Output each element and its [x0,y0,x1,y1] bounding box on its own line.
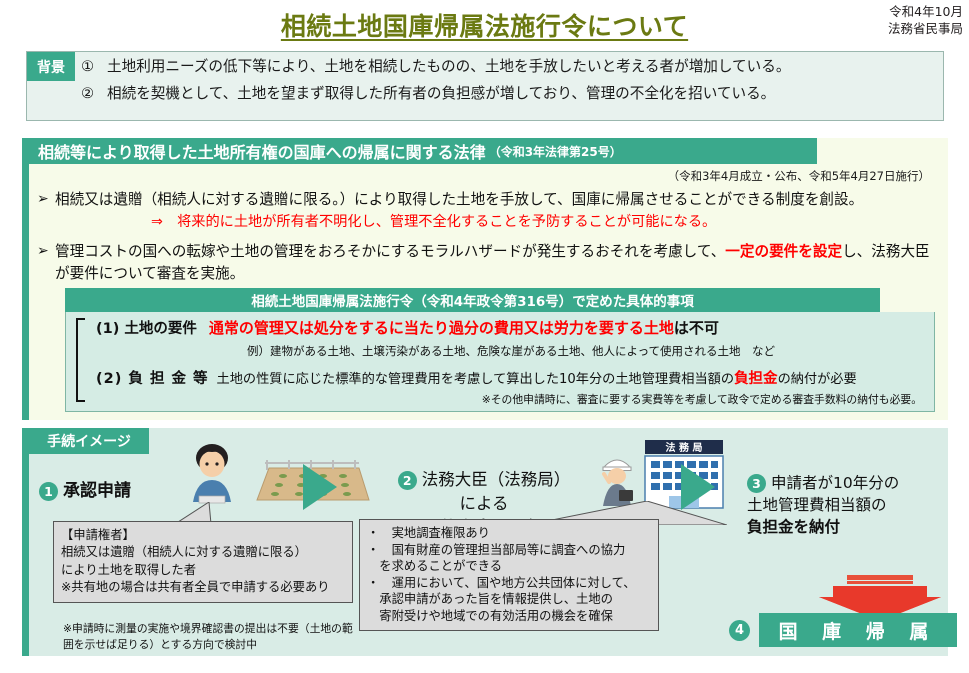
callout-line: により土地を取得した者 [61,562,345,579]
step-1-number: 1 [39,482,58,501]
requirement-row-2: (2) 負 担 金 等 土地の性質に応じた標準的な管理費用を考慮して算出した10… [74,367,926,388]
item-number: ① [81,56,107,79]
callout-line: ※共有地の場合は共有者全員で申請する必要あり [61,579,345,596]
document-page: 相続土地国庫帰属法施行令について 令和4年10月 法務省民事局 背景 ① 土地利… [0,0,969,673]
ordinance-body: (1) 土地の要件 通常の管理又は処分をするに当たり過分の費用又は労力を要する土… [65,312,935,412]
requirement-1-text: 通常の管理又は処分をするに当たり過分の費用又は労力を要する土地は不可 [209,317,719,338]
requirement-1-label: (1) 土地の要件 [96,317,197,338]
procedure-badge: 手続イメージ [29,428,149,454]
requirement-2-note: ※その他申請時に、審査に要する実費等を考慮して政令で定める審査手数料の納付も必要… [74,391,926,407]
procedure-section: 手続イメージ 1承認申請 [22,428,948,656]
issuer-block: 令和4年10月 法務省民事局 [888,4,963,38]
callout-line: ・ 実地調査権限あり [367,525,651,542]
law-bullet-1: ➢ 相続又は遺贈（相続人に対する遺贈に限る。）により取得した土地を手放して、国庫… [35,189,938,233]
law-enforcement-date: （令和3年4月成立・公布、令和5年4月27日施行） [35,168,938,184]
requirement-1-black: は不可 [674,319,719,337]
requirement-2-pre: 土地の性質に応じた標準的な管理費用を考慮して算出した10年分の土地管理費相当額の [217,372,735,387]
issuer-name: 法務省民事局 [888,21,963,38]
step-1-label: 承認申請 [63,481,131,501]
item-number: ② [81,83,107,106]
requirement-row-1: (1) 土地の要件 通常の管理又は処分をするに当たり過分の費用又は労力を要する土… [74,317,926,338]
law-number: （令和3年法律第25号） [489,143,622,160]
callout-line: ・ 運用において、国や地方公共団体に対して、 [367,575,651,592]
law-section-header: 相続等により取得した土地所有権の国庫への帰属に関する法律 （令和3年法律第25号… [29,138,817,164]
background-items: ① 土地利用ニーズの低下等により、土地を相続したものの、土地を手放したいと考える… [75,52,943,120]
law-body: （令和3年4月成立・公布、令和5年4月27日施行） ➢ 相続又は遺贈（相続人に対… [29,164,948,285]
requirement-2-red: 負担金 [734,371,778,387]
step-1-footnote: ※申請時に測量の実施や境界確認書の提出は不要（土地の範囲を示せば足りる）とする方… [63,621,363,652]
callout-line: 【申請権者】 [61,527,345,544]
callout-line: 寄附受けや地域での有効活用の機会を確保 [367,608,651,625]
law-title: 相続等により取得した土地所有権の国庫への帰属に関する法律 [38,139,486,163]
step-2-number: 2 [398,471,417,490]
flow-arrow-1-icon [303,464,337,510]
step-3-line1: 3申請者が10年分の [747,472,899,494]
officer-person-icon [597,452,639,508]
brace-bracket-icon [76,318,85,402]
bullet-arrow-icon: ➢ [35,241,55,285]
bullet-text: 管理コストの国への転嫁や土地の管理をおろそかにするモラルハザードが発生するおそれ… [55,241,938,285]
requirement-1-red: 通常の管理又は処分をするに当たり過分の費用又は労力を要する土地 [209,319,674,337]
step-2-line1: 2法務大臣（法務局） [359,466,609,490]
law-section: 相続等により取得した土地所有権の国庫への帰属に関する法律 （令和3年法律第25号… [22,138,948,420]
requirement-1-example: 例）建物がある土地、土壌汚染がある土地、危険な崖がある土地、他人によって使用され… [74,343,926,359]
applicant-callout: 【申請権者】 相続又は遺贈（相続人に対する遺贈に限る） により土地を取得した者 … [53,521,353,603]
step-3-line3: 負担金を納付 [747,516,899,538]
callout-line: 承認申請があった旨を情報提供し、土地の [367,591,651,608]
list-item: ② 相続を契機として、土地を望まず取得した所有者の負担感が増しており、管理の不全… [81,83,943,106]
background-badge: 背景 [27,52,75,81]
ordinance-header: 相続土地国庫帰属法施行令（令和4年政令第316号）で定めた具体的事項 [65,288,880,312]
bullet-text: 相続又は遺贈（相続人に対する遺贈に限る。）により取得した土地を手放して、国庫に帰… [55,189,938,233]
item-text: 土地利用ニーズの低下等により、土地を相続したものの、土地を手放したいと考える者が… [107,56,790,79]
applicant-person-icon [177,442,247,504]
item-text: 相続を契機として、土地を望まず取得した所有者の負担感が増しており、管理の不全化を… [107,83,775,106]
callout-line: ・ 国有財産の管理担当部局等に調査への協力 [367,542,651,559]
bullet-arrow-icon: ➢ [35,189,55,233]
step-4-number: 4 [729,620,750,641]
header: 相続土地国庫帰属法施行令について 令和4年10月 法務省民事局 [0,0,969,44]
step-4-result: 国 庫 帰 属 [759,613,957,647]
bullet-text-pre: 管理コストの国への転嫁や土地の管理をおろそかにするモラルハザードが発生するおそれ… [55,243,725,260]
requirement-2-post: の納付が必要 [778,372,857,387]
page-title: 相続土地国庫帰属法施行令について [0,7,969,43]
step-3-number: 3 [747,474,766,493]
bullet-text-emphasis: 一定の要件を設定 [725,243,842,260]
svg-text:法 務 局: 法 務 局 [666,441,703,454]
bullet-text-body: 相続又は遺贈（相続人に対する遺贈に限る。）により取得した土地を手放して、国庫に帰… [55,191,863,208]
step-1-title: 1承認申請 [39,476,131,501]
review-callout: ・ 実地調査権限あり ・ 国有財産の管理担当部局等に調査への協力 を求めることが… [359,519,659,631]
step-3-title: 3申請者が10年分の 土地管理費相当額の 負担金を納付 [747,472,899,538]
ordinance-panel: 相続土地国庫帰属法施行令（令和4年政令第316号）で定めた具体的事項 (1) 土… [65,288,935,412]
background-section: 背景 ① 土地利用ニーズの低下等により、土地を相続したものの、土地を手放したいと… [26,51,944,121]
list-item: ① 土地利用ニーズの低下等により、土地を相続したものの、土地を手放したいと考える… [81,56,943,79]
requirement-2-label: (2) 負 担 金 等 [96,367,209,388]
step-3-line2: 土地管理費相当額の [747,494,899,516]
callout-line: を求めることができる [367,558,651,575]
callout-line: 相続又は遺贈（相続人に対する遺贈に限る） [61,544,345,561]
requirement-2-text: 土地の性質に応じた標準的な管理費用を考慮して算出した10年分の土地管理費相当額の… [217,367,857,388]
issue-date: 令和4年10月 [888,4,963,21]
bullet-consequence: ⇒ 将来的に土地が所有者不明化し、管理不全化することを予防することが可能になる。 [151,212,938,233]
law-bullet-2: ➢ 管理コストの国への転嫁や土地の管理をおろそかにするモラルハザードが発生するお… [35,241,938,285]
